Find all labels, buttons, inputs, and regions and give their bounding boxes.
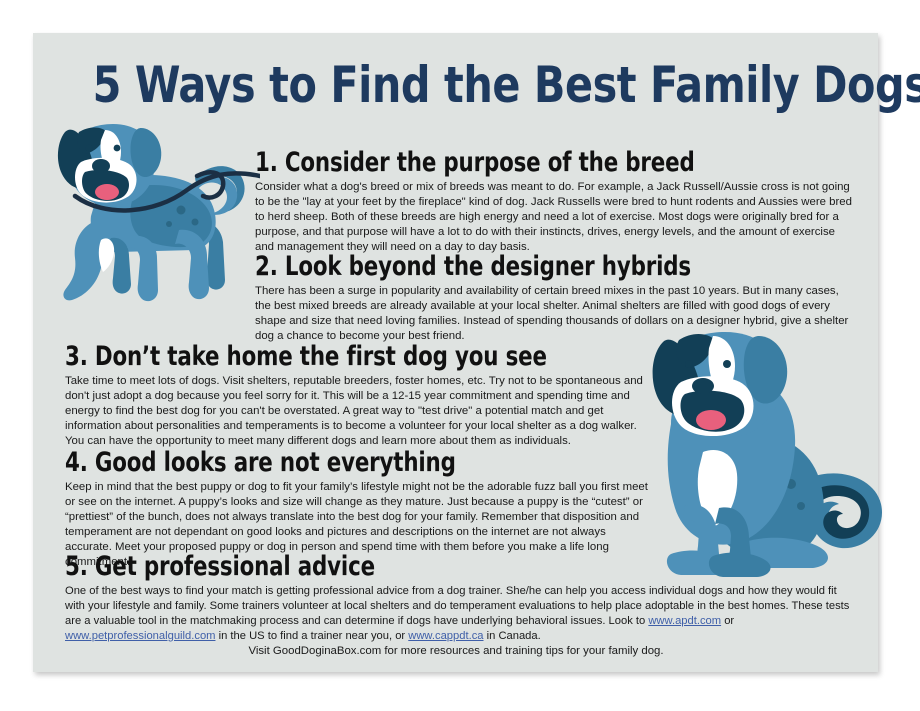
section-5-text-part-3: in the US to find a trainer near you, or — [215, 630, 408, 642]
petprofessionalguild-link[interactable]: www.petprofessionalguild.com — [65, 630, 215, 642]
apdt-link[interactable]: www.apdt.com — [648, 615, 721, 627]
section-5-text-part-2: or — [721, 615, 734, 627]
section-2-body: There has been a surge in popularity and… — [255, 284, 852, 344]
cappdt-link[interactable]: www.cappdt.ca — [408, 630, 483, 642]
section-5: 5. Get professional advice One of the be… — [65, 552, 855, 644]
section-3-body: Take time to meet lots of dogs. Visit sh… — [65, 374, 648, 449]
section-3-heading: 3. Don’t take home the first dog you see — [65, 342, 578, 372]
section-2: 2. Look beyond the designer hybrids Ther… — [255, 252, 852, 344]
footer-note: Visit GoodDoginaBox.com for more resourc… — [61, 645, 851, 657]
section-1: 1. Consider the purpose of the breed Con… — [255, 148, 852, 255]
poster-panel: 5 Ways to Find the Best Family Dogs 1. C… — [33, 33, 878, 672]
standing-dog-illustration — [45, 118, 260, 308]
section-5-heading: 5. Get professional advice — [65, 552, 760, 582]
section-5-text-part-4: in Canada. — [484, 630, 541, 642]
section-1-body: Consider what a dog's breed or mix of br… — [255, 180, 852, 255]
section-4-heading: 4. Good looks are not everything — [65, 448, 578, 478]
section-5-body: One of the best ways to find your match … — [65, 584, 855, 644]
page-title: 5 Ways to Find the Best Family Dogs — [93, 59, 820, 111]
section-1-heading: 1. Consider the purpose of the breed — [255, 148, 780, 178]
sitting-dog-illustration — [641, 328, 891, 588]
section-3: 3. Don’t take home the first dog you see… — [65, 342, 648, 449]
section-2-heading: 2. Look beyond the designer hybrids — [255, 252, 780, 282]
